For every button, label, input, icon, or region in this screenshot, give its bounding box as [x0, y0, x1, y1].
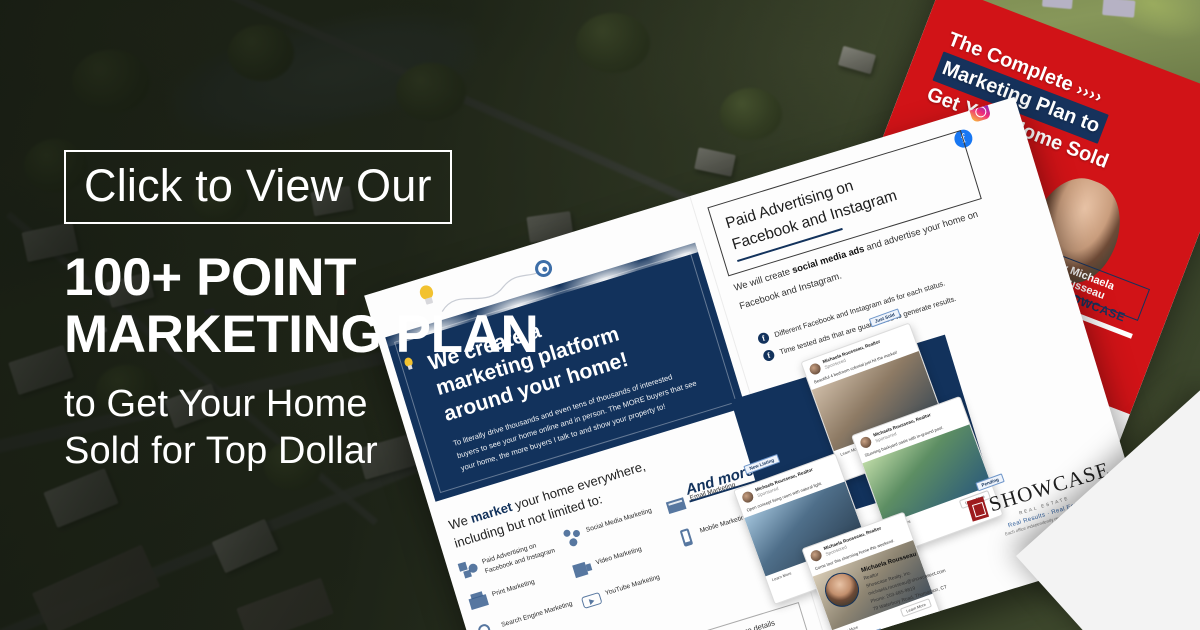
- click-to-view-label: Click to View Our: [84, 163, 432, 208]
- see-upcoming-pages-box: See the upcoming pages for more details: [610, 602, 810, 630]
- headline-line-1: 100+ POINT: [64, 250, 534, 307]
- mobile-icon: [674, 526, 699, 551]
- avatar: [741, 490, 755, 504]
- see-upcoming-pages-label: See the upcoming pages for more details: [641, 618, 776, 630]
- video-icon: [570, 557, 595, 582]
- channel-label: YouTube Marketing: [603, 570, 661, 599]
- headline-line-2: MARKETING PLAN: [64, 307, 534, 364]
- promo-subheadline: to Get Your Home Sold for Top Dollar: [64, 381, 534, 474]
- search-engine-icon: [475, 620, 500, 630]
- subheadline-line-1: to Get Your Home: [64, 381, 534, 427]
- youtube-icon: [579, 588, 604, 613]
- email-icon: [664, 493, 689, 518]
- promo-headline: 100+ POINT MARKETING PLAN: [64, 250, 534, 363]
- print-icon: [466, 589, 491, 614]
- channel-label: Print Marketing: [490, 575, 536, 600]
- facebook-bullet-icon: f: [757, 331, 771, 345]
- promo-headline-group: Click to View Our 100+ POINT MARKETING P…: [64, 150, 534, 474]
- post-cta[interactable]: Learn More: [772, 571, 794, 586]
- facebook-instagram-ads-icon: [456, 557, 481, 582]
- avatar: [808, 362, 822, 376]
- click-to-view-button[interactable]: Click to View Our: [64, 150, 452, 224]
- avatar: [859, 435, 873, 449]
- social-media-icon: [560, 525, 585, 550]
- subheadline-line-2: Sold for Top Dollar: [64, 428, 534, 474]
- channel-label: Video Marketing: [594, 542, 643, 568]
- chevrons-icon: ››››: [1074, 79, 1106, 106]
- facebook-bullet-icon: f: [762, 349, 776, 363]
- avatar: [809, 548, 823, 562]
- promo-banner[interactable]: The Complete ›››› Marketing Plan to Get …: [0, 0, 1200, 630]
